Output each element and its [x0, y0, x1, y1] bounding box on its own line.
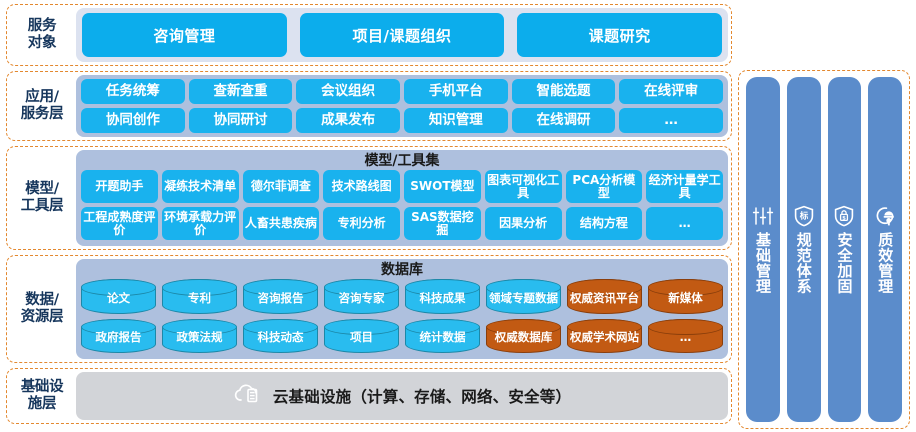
pillar-security-hardening[interactable]: $ 安全加固: [828, 77, 862, 422]
layer-label-service-object: 服务 对象: [10, 8, 74, 62]
label-line: 工具层: [21, 198, 64, 215]
application-service-body: 任务统筹 查新查重 会议组织 手机平台 智能选题 在线评审 协同创作 协同研讨 …: [76, 75, 728, 137]
model-pill[interactable]: 经济计量学工具: [646, 170, 723, 203]
database-cylinder-more[interactable]: …: [648, 319, 723, 354]
database-label: 权威学术网站: [570, 331, 639, 343]
layer-label-model-tool: 模型/ 工具层: [10, 150, 74, 246]
layer-service-object: 服务 对象 咨询管理 项目/课题组织 课题研究: [6, 4, 732, 66]
architecture-diagram: 服务 对象 咨询管理 项目/课题组织 课题研究 应用/ 服务层 任务统筹 查新查…: [0, 0, 916, 432]
layer-stack: 服务 对象 咨询管理 项目/课题组织 课题研究 应用/ 服务层 任务统筹 查新查…: [6, 4, 732, 430]
model-pill[interactable]: 凝练技术清单: [162, 170, 239, 203]
database-label: 政府报告: [96, 331, 142, 343]
model-pill[interactable]: 技术路线图: [323, 170, 400, 203]
infrastructure-text: 云基础设施（计算、存储、网络、安全等）: [273, 385, 571, 407]
database-cylinder[interactable]: 政策法规: [162, 319, 237, 354]
service-pill-project-topic[interactable]: 项目/课题组织: [300, 13, 505, 57]
cross-cutting-pillars: 基础管理 标 规范体系 $ 安全加固: [738, 70, 910, 429]
label-line: 对象: [28, 35, 56, 52]
app-pill[interactable]: 手机平台: [404, 79, 508, 104]
layer-infrastructure: 基础设 施层 云基础设施（计算、存储、网络、安全等）: [6, 368, 732, 424]
database-label: 科技成果: [420, 292, 466, 304]
app-pill[interactable]: 在线评审: [619, 79, 723, 104]
sliders-icon: [752, 205, 774, 227]
database-cylinder[interactable]: 咨询报告: [243, 279, 318, 314]
layer-label-infrastructure: 基础设 施层: [10, 372, 74, 420]
database-label: …: [680, 331, 692, 343]
app-pill[interactable]: 智能选题: [512, 79, 616, 104]
svg-text:$: $: [842, 215, 846, 221]
database-cylinder[interactable]: 政府报告: [81, 319, 156, 354]
data-resource-title: 数据库: [81, 263, 723, 278]
layer-data-resource: 数据/ 资源层 数据库 论文 专利 咨询报告 咨询专家 科技成果 领域专题数据 …: [6, 255, 732, 363]
model-pill[interactable]: SAS数据挖掘: [404, 207, 481, 240]
model-pill[interactable]: 人畜共患疾病: [243, 207, 320, 240]
database-cylinder[interactable]: 权威学术网站: [567, 319, 642, 354]
infrastructure-body: 云基础设施（计算、存储、网络、安全等）: [76, 372, 728, 420]
svg-text:标: 标: [798, 211, 808, 222]
database-label: 科技动态: [258, 331, 304, 343]
pillar-label: 质效管理: [877, 232, 893, 294]
database-label: 新媒体: [668, 292, 703, 304]
model-pill[interactable]: 工程成熟度评价: [81, 207, 158, 240]
application-pill-grid: 任务统筹 查新查重 会议组织 手机平台 智能选题 在线评审 协同创作 协同研讨 …: [81, 79, 723, 133]
database-cylinder[interactable]: 权威数据库: [486, 319, 561, 354]
database-label: 领域专题数据: [489, 292, 558, 304]
model-pill[interactable]: SWOT模型: [404, 170, 481, 203]
database-label: 权威数据库: [495, 331, 553, 343]
service-pill-topic-research[interactable]: 课题研究: [517, 13, 722, 57]
pillar-quality-efficiency-management[interactable]: 质效管理: [868, 77, 902, 422]
database-cylinder[interactable]: 统计数据: [405, 319, 480, 354]
layer-label-data-resource: 数据/ 资源层: [10, 259, 74, 359]
database-cylinder[interactable]: 咨询专家: [324, 279, 399, 314]
label-line: 模型/: [25, 181, 58, 198]
app-pill[interactable]: 成果发布: [296, 108, 400, 133]
model-pill[interactable]: 德尔菲调查: [243, 170, 320, 203]
shield-standard-icon: 标: [793, 205, 815, 227]
pillar-label: 规范体系: [796, 232, 812, 294]
app-pill[interactable]: 会议组织: [296, 79, 400, 104]
app-pill[interactable]: 协同创作: [81, 108, 185, 133]
database-cylinder[interactable]: 权威资讯平台: [567, 279, 642, 314]
database-label: 咨询专家: [339, 292, 385, 304]
label-line: 施层: [28, 396, 56, 413]
layer-application-service: 应用/ 服务层 任务统筹 查新查重 会议组织 手机平台 智能选题 在线评审 协同…: [6, 71, 732, 141]
model-tool-body: 模型/工具集 开题助手 凝练技术清单 德尔菲调查 技术路线图 SWOT模型 图表…: [76, 150, 728, 246]
model-pill[interactable]: 结构方程: [566, 207, 643, 240]
app-pill[interactable]: 协同研讨: [189, 108, 293, 133]
database-cylinder[interactable]: 科技成果: [405, 279, 480, 314]
app-pill[interactable]: 查新查重: [189, 79, 293, 104]
label-line: 基础设: [21, 379, 64, 396]
model-pill[interactable]: 专利分析: [323, 207, 400, 240]
label-line: 数据/: [25, 292, 58, 309]
database-grid: 论文 专利 咨询报告 咨询专家 科技成果 领域专题数据 权威资讯平台 新媒体 政…: [81, 279, 723, 353]
pillar-basic-management[interactable]: 基础管理: [746, 77, 780, 422]
shield-lock-icon: $: [833, 205, 855, 227]
app-pill-more[interactable]: …: [619, 108, 723, 133]
label-line: 服务层: [21, 106, 64, 123]
model-pill-more[interactable]: …: [646, 207, 723, 240]
model-pill[interactable]: PCA分析模型: [566, 170, 643, 203]
app-pill[interactable]: 任务统筹: [81, 79, 185, 104]
label-line: 服务: [28, 18, 56, 35]
pillar-label: 安全加固: [836, 232, 852, 294]
app-pill[interactable]: 知识管理: [404, 108, 508, 133]
model-pill[interactable]: 开题助手: [81, 170, 158, 203]
data-resource-body: 数据库 论文 专利 咨询报告 咨询专家 科技成果 领域专题数据 权威资讯平台 新…: [76, 259, 728, 359]
database-cylinder[interactable]: 专利: [162, 279, 237, 314]
layer-label-application-service: 应用/ 服务层: [10, 75, 74, 137]
service-pill-consulting[interactable]: 咨询管理: [82, 13, 287, 57]
pillar-standard-system[interactable]: 标 规范体系: [787, 77, 821, 422]
database-cylinder[interactable]: 新媒体: [648, 279, 723, 314]
database-label: 项目: [350, 331, 373, 343]
database-cylinder[interactable]: 项目: [324, 319, 399, 354]
gear-helmet-icon: [874, 205, 896, 227]
model-pill-grid: 开题助手 凝练技术清单 德尔菲调查 技术路线图 SWOT模型 图表可视化工具 P…: [81, 170, 723, 240]
cloud-server-icon: [233, 381, 263, 411]
database-label: 专利: [188, 292, 211, 304]
database-label: 统计数据: [420, 331, 466, 343]
pillar-label: 基础管理: [755, 232, 771, 294]
app-pill[interactable]: 在线调研: [512, 108, 616, 133]
database-cylinder[interactable]: 科技动态: [243, 319, 318, 354]
database-label: 权威资讯平台: [570, 292, 639, 304]
database-cylinder[interactable]: 论文: [81, 279, 156, 314]
model-tool-title: 模型/工具集: [81, 154, 723, 169]
layer-model-tool: 模型/ 工具层 模型/工具集 开题助手 凝练技术清单 德尔菲调查 技术路线图 S…: [6, 146, 732, 250]
service-object-body: 咨询管理 项目/课题组织 课题研究: [76, 8, 728, 62]
database-label: 论文: [107, 292, 130, 304]
model-pill[interactable]: 图表可视化工具: [485, 170, 562, 203]
label-line: 应用/: [25, 89, 58, 106]
database-label: 政策法规: [177, 331, 223, 343]
model-pill[interactable]: 环境承载力评价: [162, 207, 239, 240]
database-label: 咨询报告: [258, 292, 304, 304]
model-pill[interactable]: 因果分析: [485, 207, 562, 240]
label-line: 资源层: [21, 309, 64, 326]
database-cylinder[interactable]: 领域专题数据: [486, 279, 561, 314]
